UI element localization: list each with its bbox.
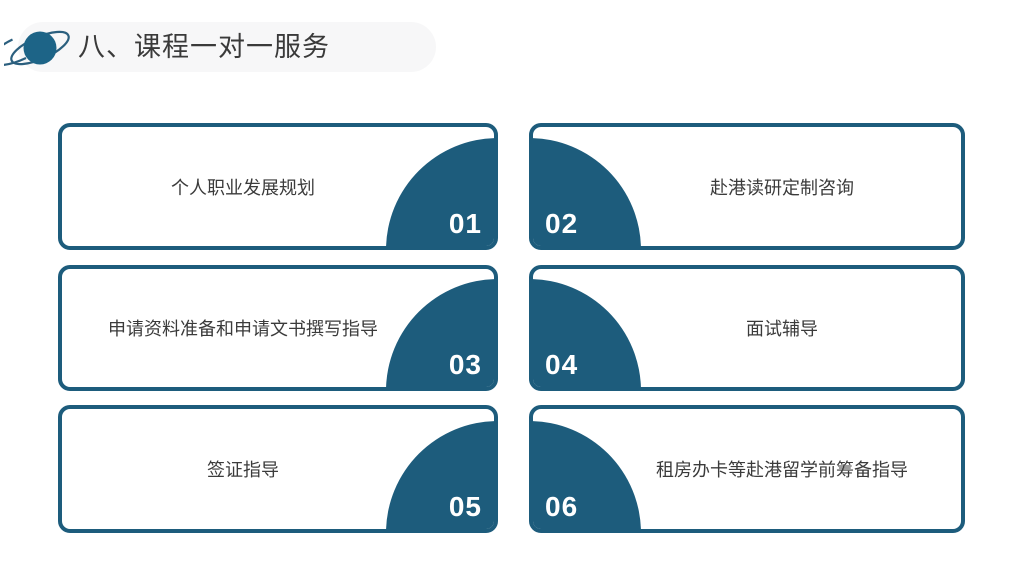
- service-card[interactable]: 申请资料准备和申请文书撰写指导 03: [58, 265, 498, 391]
- service-label: 申请资料准备和申请文书撰写指导: [62, 315, 494, 341]
- service-card[interactable]: 面试辅导 04: [529, 265, 965, 391]
- number-badge-text: 03: [449, 349, 482, 381]
- card-grid: 个人职业发展规划 01 赴港读研定制咨询 02 申请资料准备和申请文书撰写指导 …: [0, 0, 1024, 576]
- number-badge-text: 04: [545, 349, 578, 381]
- service-card[interactable]: 签证指导 05: [58, 405, 498, 533]
- number-badge-text: 05: [449, 491, 482, 523]
- number-badge-text: 01: [449, 208, 482, 240]
- service-label: 面试辅导: [533, 315, 961, 341]
- service-label: 租房办卡等赴港留学前筹备指导: [533, 456, 961, 482]
- service-card[interactable]: 个人职业发展规划 01: [58, 123, 498, 250]
- service-card[interactable]: 租房办卡等赴港留学前筹备指导 06: [529, 405, 965, 533]
- service-card[interactable]: 赴港读研定制咨询 02: [529, 123, 965, 250]
- number-badge-text: 06: [545, 491, 578, 523]
- number-badge-text: 02: [545, 208, 578, 240]
- service-label: 签证指导: [62, 456, 494, 482]
- service-label: 赴港读研定制咨询: [533, 174, 961, 200]
- service-label: 个人职业发展规划: [62, 174, 494, 200]
